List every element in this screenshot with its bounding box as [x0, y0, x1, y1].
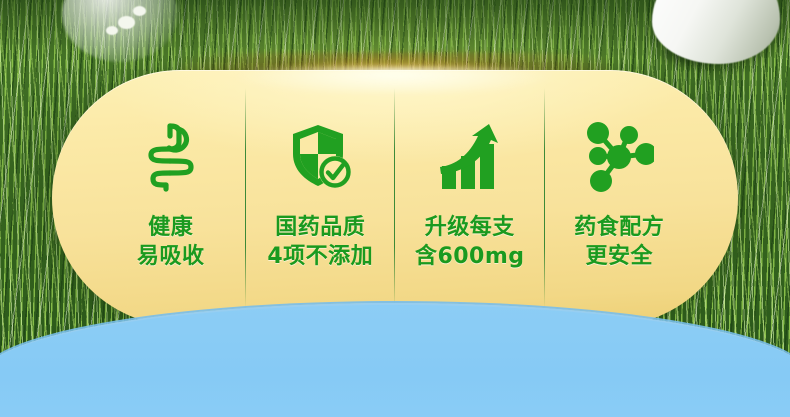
- feature-line1: 药食配方: [574, 215, 664, 240]
- stomach-intestine-icon: [140, 120, 202, 194]
- growth-bar-chart-arrow-icon: [436, 120, 504, 194]
- feature-line2: 4项不添加: [267, 243, 373, 272]
- feature-line2: 含600mg: [415, 243, 525, 272]
- feature-line1: 国药品质: [275, 215, 365, 240]
- feature-columns: 健康 易吸收: [52, 70, 738, 326]
- feature-label-quality: 国药品质 4项不添加: [267, 214, 373, 271]
- feature-label-dosage: 升级每支 含600mg: [415, 214, 525, 271]
- feature-item-dosage[interactable]: 升级每支 含600mg: [395, 70, 545, 326]
- feature-label-formula: 药食配方 更安全: [574, 214, 664, 271]
- promo-banner: 健康 易吸收: [0, 0, 790, 417]
- feature-item-formula[interactable]: 药食配方 更安全: [545, 70, 695, 326]
- shield-check-icon: [287, 120, 353, 194]
- feature-line2: 更安全: [574, 243, 664, 272]
- feature-label-health: 健康 易吸收: [137, 214, 205, 271]
- feature-item-health[interactable]: 健康 易吸收: [96, 70, 246, 326]
- feature-line1: 升级每支: [425, 215, 515, 240]
- feature-line2: 易吸收: [137, 243, 205, 272]
- feature-card: 健康 易吸收: [52, 70, 738, 326]
- feature-line1: 健康: [148, 215, 193, 240]
- molecule-icon: [584, 120, 654, 194]
- feature-item-quality[interactable]: 国药品质 4项不添加: [246, 70, 396, 326]
